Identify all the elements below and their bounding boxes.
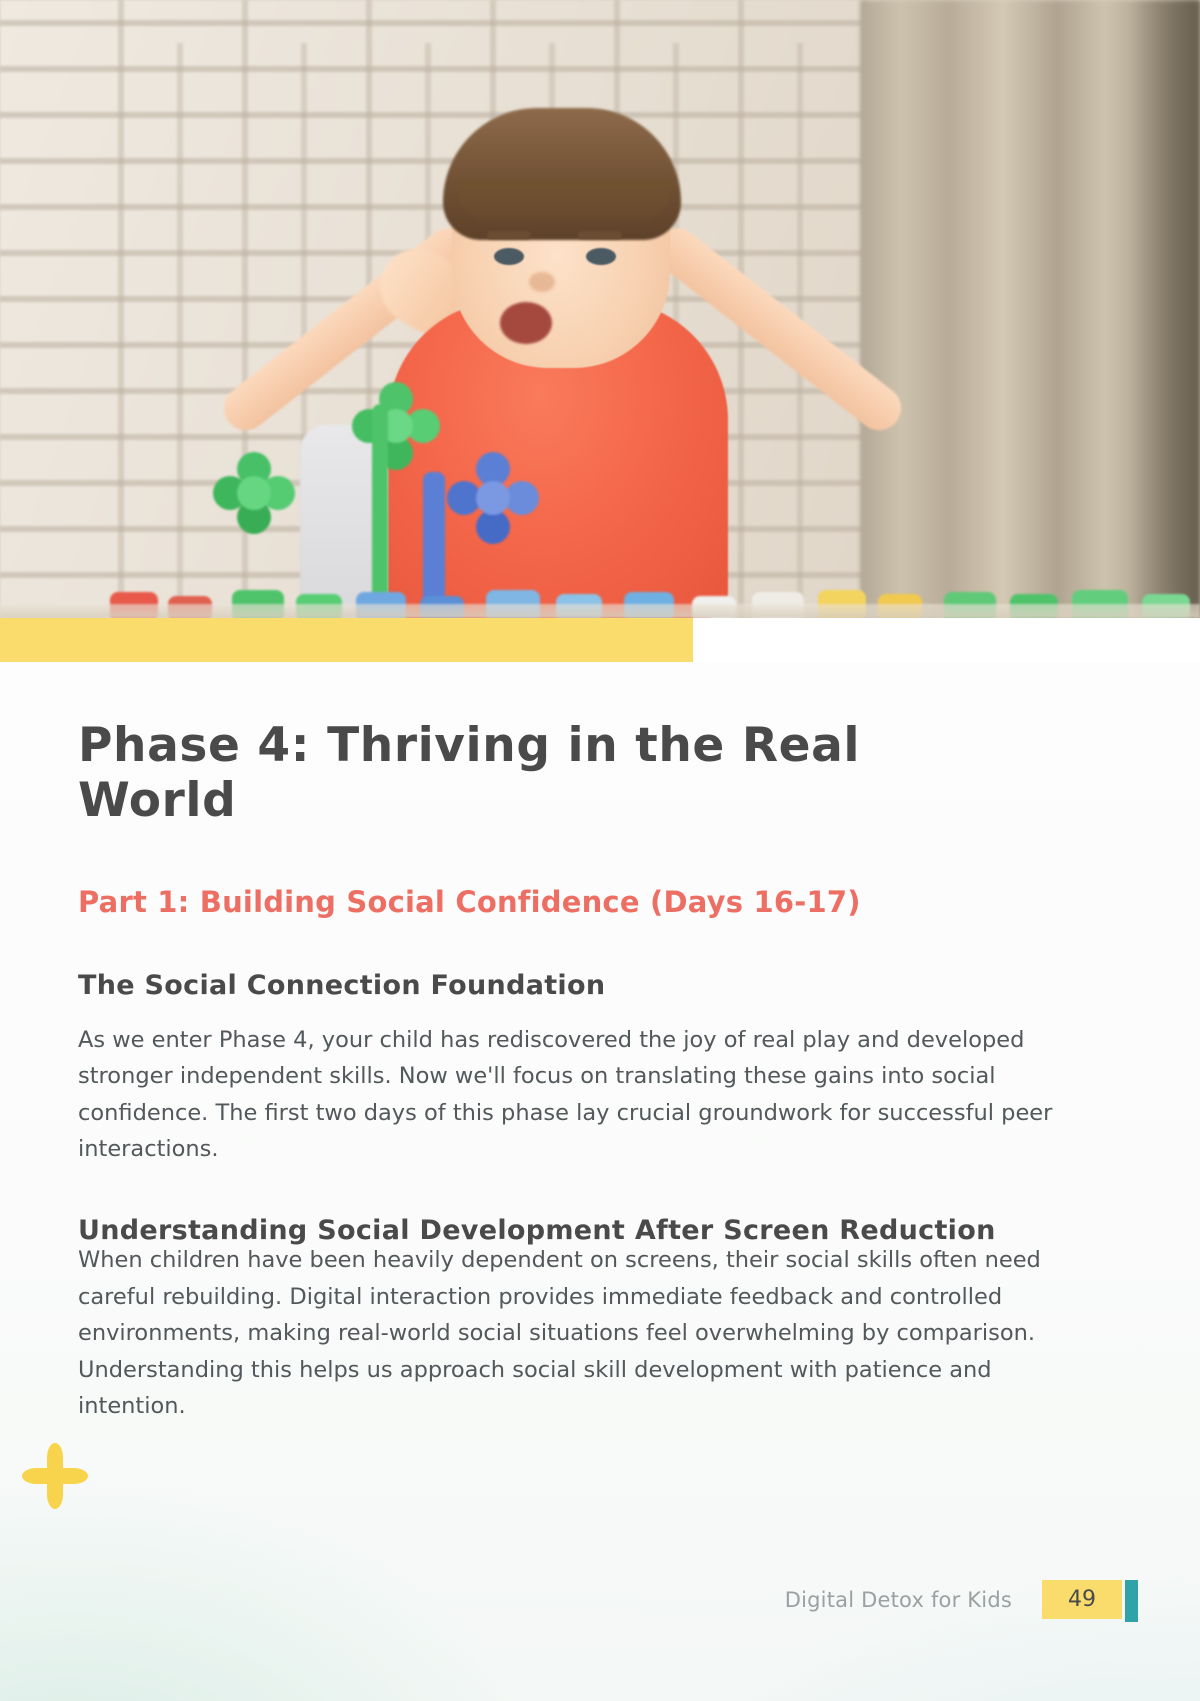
page-number-badge: 49 bbox=[1042, 1580, 1122, 1619]
right-eye bbox=[586, 248, 616, 265]
teal-accent-tab bbox=[1125, 1580, 1138, 1622]
toy-flower-green-2 bbox=[213, 452, 295, 534]
open-mouth bbox=[500, 302, 552, 344]
left-eyebrow bbox=[487, 231, 531, 239]
nose bbox=[529, 272, 555, 292]
page-content: Phase 4: Thriving in the Real World Part… bbox=[78, 662, 1122, 1425]
section-subtitle: Part 1: Building Social Confidence (Days… bbox=[78, 828, 1122, 920]
left-eye bbox=[494, 248, 524, 265]
toy-flower-green bbox=[352, 382, 440, 470]
table-edge bbox=[0, 604, 1200, 618]
toy-flower-blue bbox=[447, 452, 539, 544]
right-eyebrow bbox=[578, 231, 622, 239]
page-footer: Digital Detox for Kids 49 bbox=[0, 1580, 1200, 1640]
child-hair bbox=[443, 108, 681, 240]
footer-book-title: Digital Detox for Kids bbox=[785, 1588, 1012, 1612]
book-page: Phase 4: Thriving in the Real World Part… bbox=[0, 0, 1200, 1701]
paragraph-understanding-social-development: When children have been heavily dependen… bbox=[78, 1242, 1063, 1424]
page-title: Phase 4: Thriving in the Real World bbox=[78, 662, 1008, 828]
sparkle-star-icon bbox=[22, 1443, 88, 1509]
hero-image bbox=[0, 0, 1200, 618]
heading-understanding-social-development: Understanding Social Development After S… bbox=[78, 1167, 1122, 1248]
heading-social-connection-foundation: The Social Connection Foundation bbox=[78, 920, 1122, 1003]
curtain-shadow bbox=[1130, 0, 1200, 618]
yellow-accent-bar bbox=[0, 618, 693, 662]
paragraph-social-connection-foundation: As we enter Phase 4, your child has redi… bbox=[78, 1003, 1063, 1168]
